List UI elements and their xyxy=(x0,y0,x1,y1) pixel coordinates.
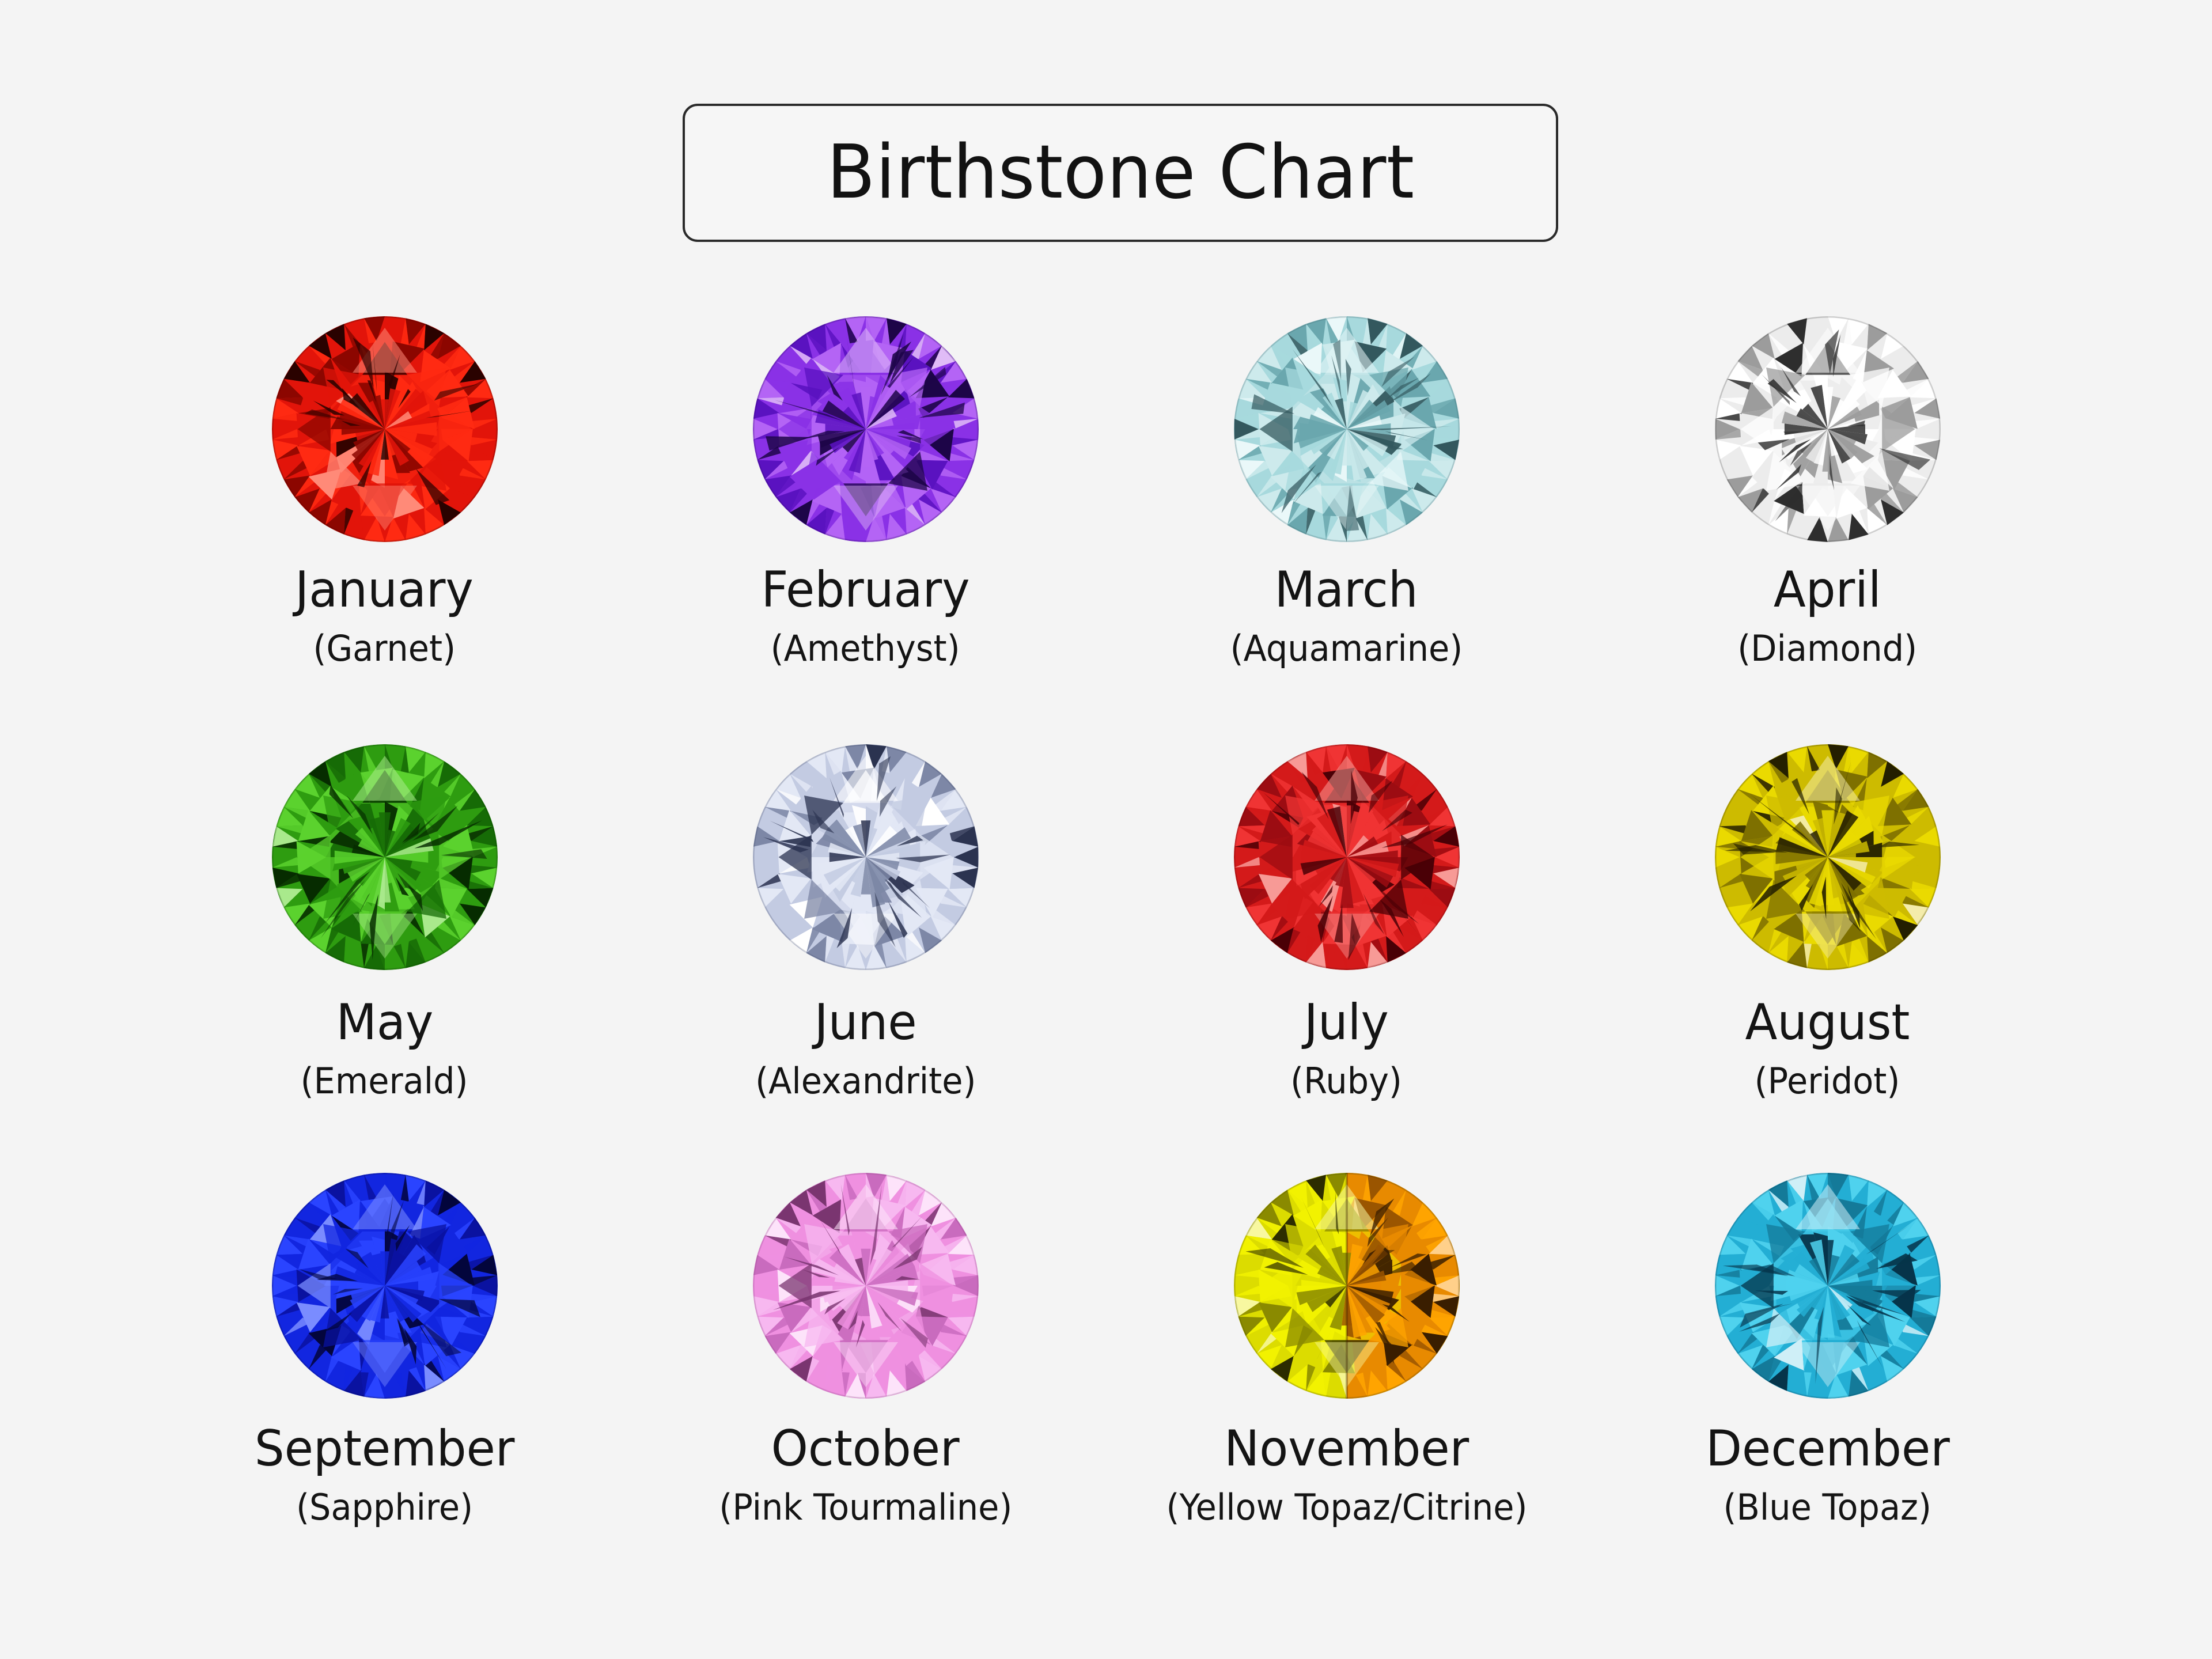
month-label: July xyxy=(1304,998,1389,1047)
stone-label: (Pink Tourmaline) xyxy=(719,1490,1012,1525)
stone-label: (Peridot) xyxy=(1755,1063,1900,1099)
month-label: May xyxy=(336,998,433,1047)
gem-icon-tourmaline xyxy=(751,1171,981,1401)
birthstone-cell-september[interactable]: September(Sapphire) xyxy=(144,1171,625,1599)
stone-label: (Ruby) xyxy=(1291,1063,1403,1099)
birthstone-cell-october[interactable]: October(Pink Tourmaline) xyxy=(625,1171,1106,1599)
month-label: April xyxy=(1774,565,1881,615)
gem-icon-diamond xyxy=(1713,314,1943,544)
stone-label: (Amethyst) xyxy=(771,631,960,666)
birthstone-cell-april[interactable]: April(Diamond) xyxy=(1587,314,2068,742)
stone-label: (Blue Topaz) xyxy=(1724,1490,1931,1525)
gem-icon-aquamarine xyxy=(1232,314,1462,544)
stone-label: (Garnet) xyxy=(313,631,456,666)
birthstone-cell-june[interactable]: June(Alexandrite) xyxy=(625,742,1106,1170)
gem-icon-citrine xyxy=(1232,1171,1462,1401)
birthstone-cell-february[interactable]: February(Amethyst) xyxy=(625,314,1106,742)
birthstone-cell-november[interactable]: November(Yellow Topaz/Citrine) xyxy=(1106,1171,1587,1599)
page-title-box: Birthstone Chart xyxy=(683,104,1558,242)
gem-icon-sapphire xyxy=(270,1171,500,1401)
gem-icon-amethyst xyxy=(751,314,981,544)
birthstone-cell-may[interactable]: May(Emerald) xyxy=(144,742,625,1170)
month-label: August xyxy=(1745,998,1910,1047)
month-label: November xyxy=(1224,1424,1469,1474)
stone-label: (Alexandrite) xyxy=(755,1063,976,1099)
stone-label: (Diamond) xyxy=(1738,631,1918,666)
birthstone-cell-january[interactable]: January(Garnet) xyxy=(144,314,625,742)
gem-icon-peridot xyxy=(1713,742,1943,972)
birthstone-cell-july[interactable]: July(Ruby) xyxy=(1106,742,1587,1170)
gem-icon-garnet xyxy=(270,314,500,544)
month-label: January xyxy=(296,565,474,615)
stone-label: (Sapphire) xyxy=(296,1490,473,1525)
birthstone-chart-page: Birthstone Chart January(Garnet)February… xyxy=(0,0,2212,1659)
gem-icon-alexandrite xyxy=(751,742,981,972)
stone-label: (Aquamarine) xyxy=(1230,631,1463,666)
page-title: Birthstone Chart xyxy=(827,136,1414,210)
month-label: October xyxy=(771,1424,960,1474)
month-label: March xyxy=(1275,565,1418,615)
stone-label: (Emerald) xyxy=(301,1063,468,1099)
month-label: December xyxy=(1706,1424,1950,1474)
gem-icon-emerald xyxy=(270,742,500,972)
birthstone-cell-august[interactable]: August(Peridot) xyxy=(1587,742,2068,1170)
month-label: February xyxy=(761,565,969,615)
month-label: September xyxy=(255,1424,515,1474)
birthstone-grid: January(Garnet)February(Amethyst)March(A… xyxy=(144,314,2068,1599)
stone-label: (Yellow Topaz/Citrine) xyxy=(1166,1490,1527,1525)
gem-icon-ruby xyxy=(1232,742,1462,972)
gem-icon-blue-topaz xyxy=(1713,1171,1943,1401)
birthstone-cell-march[interactable]: March(Aquamarine) xyxy=(1106,314,1587,742)
birthstone-cell-december[interactable]: December(Blue Topaz) xyxy=(1587,1171,2068,1599)
month-label: June xyxy=(815,998,917,1047)
